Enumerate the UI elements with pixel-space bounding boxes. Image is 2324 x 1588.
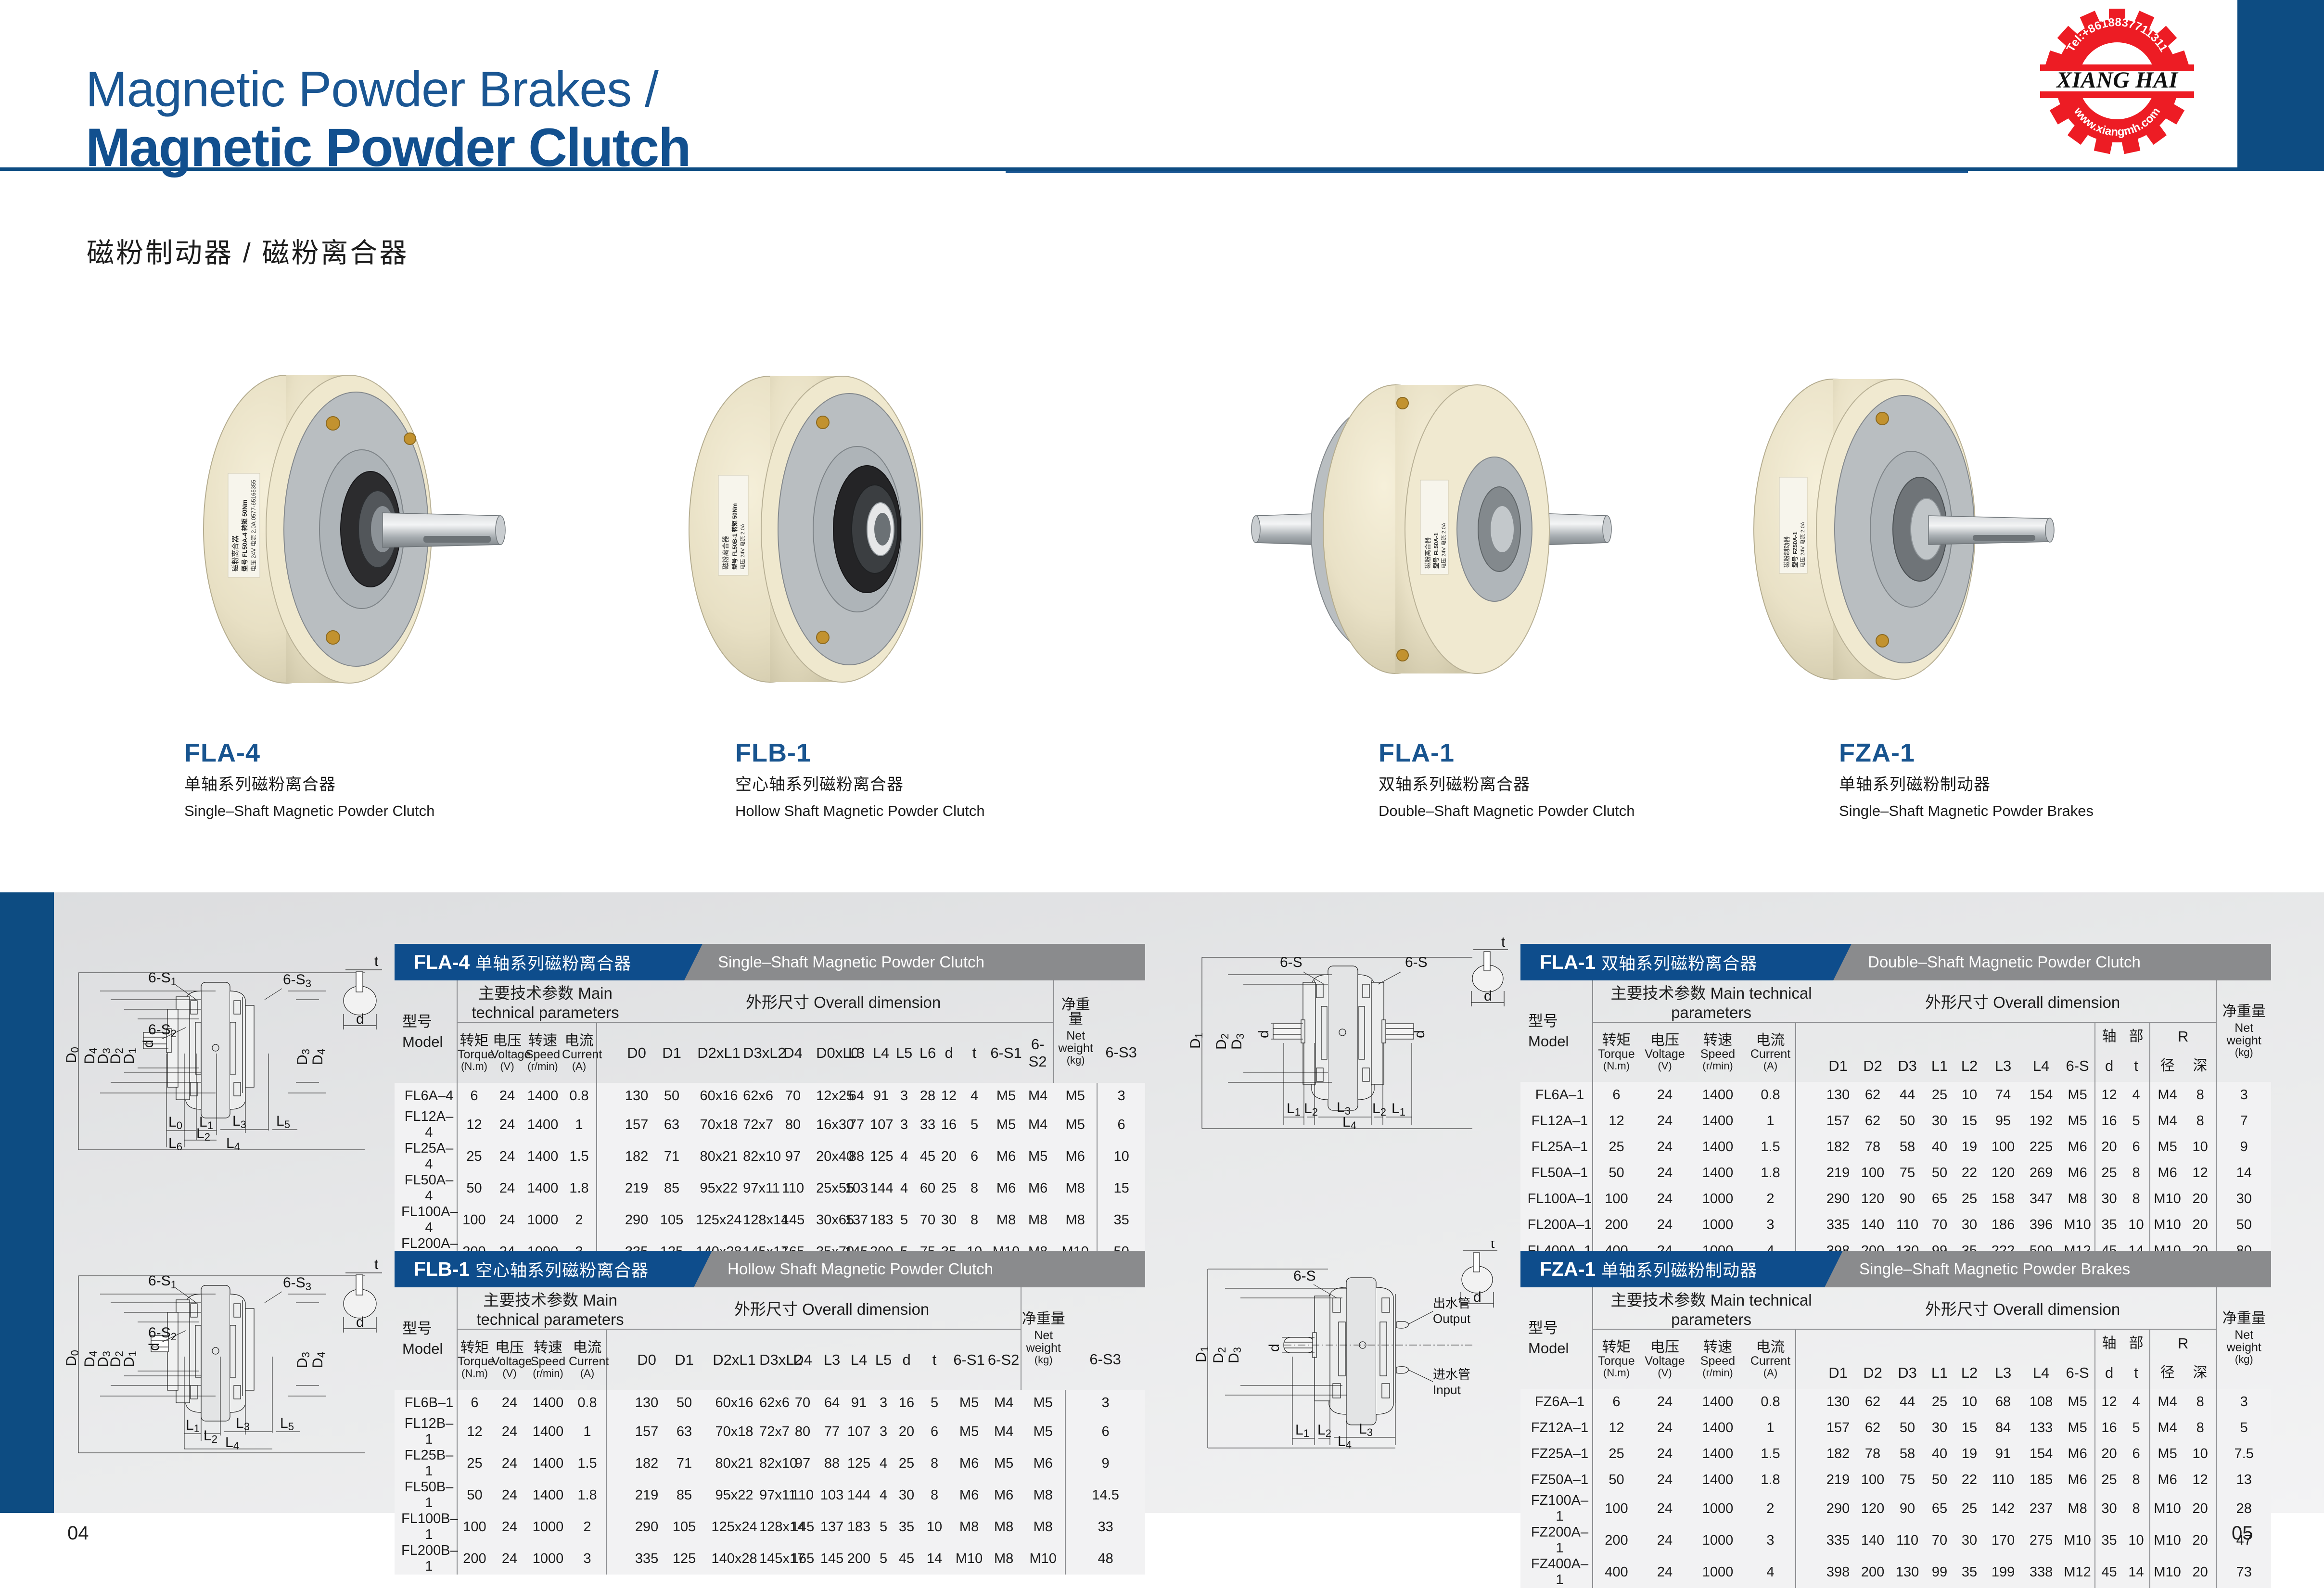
- table-cell: 24: [1640, 1108, 1690, 1134]
- table-cell: 85: [659, 1479, 709, 1511]
- table-cell: 70x18: [695, 1109, 743, 1141]
- table-cell: 130: [625, 1083, 649, 1109]
- table-cell: [1796, 1082, 1821, 1108]
- table-cell: M5: [1022, 1141, 1054, 1172]
- table-cell: 200: [847, 1543, 871, 1575]
- label-l4: L4: [226, 1135, 240, 1153]
- table-row: FZ6A–162414000.81306244251068108M5124M48…: [1520, 1389, 2271, 1415]
- header-r-dia: 径: [2150, 1050, 2184, 1082]
- table-cell: 97x11: [759, 1479, 788, 1511]
- table-cell: 95x22: [695, 1172, 743, 1204]
- table-cell: 120: [1855, 1186, 1890, 1212]
- table-cell: 78: [1855, 1441, 1890, 1467]
- table-cell: 0.8: [1746, 1082, 1796, 1108]
- table-cell: 30x65: [816, 1204, 843, 1236]
- table-row: FZ25A–1252414001.51827858401991154M6206M…: [1520, 1441, 2271, 1467]
- table-cell: 182: [634, 1448, 659, 1479]
- title-underline: [1006, 171, 1968, 173]
- table-cell: 120: [1984, 1160, 2022, 1186]
- table-cell: [1796, 1186, 1821, 1212]
- table-cell: 1: [1746, 1415, 1796, 1441]
- label-keyway-d: d: [356, 1011, 364, 1027]
- table-cell: 8: [917, 1479, 952, 1511]
- header-dim-5: L3: [1984, 1357, 2022, 1389]
- table-cell: 275: [2022, 1524, 2060, 1556]
- header-r: R: [2150, 1022, 2216, 1050]
- table-cell: 80x21: [709, 1448, 759, 1479]
- table-cell: M8: [986, 1543, 1021, 1575]
- caption-en-fza1: Single–Shaft Magnetic Powder Brakes: [1839, 803, 2094, 818]
- table-cell: 35: [2095, 1212, 2123, 1238]
- table-cell: 120: [1855, 1493, 1890, 1524]
- table-cell-weight: 50: [2216, 1212, 2271, 1238]
- table-cell: 70: [770, 1083, 816, 1109]
- rows-fza1: FZ6A–162414000.81306244251068108M5124M48…: [1520, 1389, 2271, 1588]
- table-cell: 60x16: [695, 1083, 743, 1109]
- table-cell: 24: [1640, 1493, 1690, 1524]
- table-cell: 99: [1925, 1556, 1954, 1588]
- header-group-dims: 外形尺寸 Overall dimension: [625, 980, 1054, 1022]
- band-fza1: FZA-1 单轴系列磁粉制动器 Single–Shaft Magnetic Po…: [1520, 1251, 2271, 1287]
- table-cell: 157: [1821, 1415, 1855, 1441]
- table-cell: [1796, 1212, 1821, 1238]
- caption-cn-fla4: 单轴系列磁粉离合器: [184, 776, 434, 793]
- table-cell: 70x18: [709, 1416, 759, 1448]
- table-cell: 20: [2184, 1556, 2216, 1588]
- table-row: FL25B–1252414001.51827180x2182x109788125…: [395, 1448, 1145, 1479]
- header-dim-7: 6-S: [2060, 1050, 2095, 1082]
- caption-cn-fla1: 双轴系列磁粉离合器: [1379, 776, 1634, 793]
- header-shaft-cn2: 部: [2123, 1329, 2150, 1357]
- svg-text:电压 24V 电流 2.0A: 电压 24V 电流 2.0A: [1440, 522, 1447, 569]
- table-cell: M10: [2060, 1212, 2095, 1238]
- table-cell-model: FL50A–1: [1520, 1160, 1593, 1186]
- table-cell: 44: [1890, 1082, 1925, 1108]
- header-speed: 转速 Speed (r/min): [527, 1329, 569, 1390]
- table-cell: [597, 1204, 625, 1236]
- header-dim-7: L4: [870, 1022, 892, 1083]
- table-cell: 8: [2184, 1108, 2216, 1134]
- header-dim-14: 6-S3: [1097, 1022, 1145, 1083]
- table-cell: 88: [817, 1448, 847, 1479]
- table-row: FZ12A–11224140011576250301584133M5165M48…: [1520, 1415, 2271, 1441]
- label-d1: D1: [1188, 1032, 1205, 1049]
- table-cell-weight: 9: [1065, 1448, 1145, 1479]
- table-cell: 8: [2123, 1467, 2150, 1493]
- label-d: d: [146, 1343, 162, 1351]
- table-cell-weight: 3: [1097, 1083, 1145, 1109]
- table-cell: 6: [1593, 1389, 1640, 1415]
- band-model-flb1: FLB-1: [414, 1258, 470, 1281]
- table-cell: 100: [457, 1204, 491, 1236]
- table-cell: M10: [2150, 1493, 2184, 1524]
- header-dim-6: L4: [847, 1329, 871, 1390]
- table-cell: M4: [986, 1416, 1021, 1448]
- table-cell: 5: [958, 1109, 990, 1141]
- table-cell-model: FL200A–1: [1520, 1212, 1593, 1238]
- page-title: Magnetic Powder Brakes / Magnetic Powder…: [86, 63, 1240, 176]
- header-dim-spacer: [1821, 1022, 2095, 1050]
- header-blue-rail: [2237, 0, 2324, 167]
- table-cell: 95x22: [709, 1479, 759, 1511]
- table-cell: 100: [1593, 1186, 1640, 1212]
- table-cell: 130: [634, 1390, 659, 1416]
- table-cell: 16: [2095, 1415, 2123, 1441]
- table-cell: 1400: [524, 1109, 562, 1141]
- table-cell: [1796, 1160, 1821, 1186]
- company-logo: XIANG HAI Tel:+8618837711311 www.xiangmh…: [2011, 9, 2223, 163]
- product-photo-fza1: 磁粉制动器 型号 FZ50A-1 电压 24V 电流 2.0A: [1713, 337, 2103, 702]
- table-row: FL50A–1502414001.8219100755022120269M625…: [1520, 1160, 2271, 1186]
- table-row: FL50B–1502414001.82198595x2297x111101031…: [395, 1479, 1145, 1511]
- table-cell: 25: [1925, 1389, 1954, 1415]
- table-cell: 3: [1746, 1524, 1796, 1556]
- table-cell: 133: [2022, 1415, 2060, 1441]
- caption-fla1: FLA-1 双轴系列磁粉离合器 Double–Shaft Magnetic Po…: [1379, 740, 1634, 818]
- table-cell: 199: [1984, 1556, 2022, 1588]
- table-cell: 4: [892, 1141, 916, 1172]
- header-dim-7: L5: [871, 1329, 896, 1390]
- table-cell: M6: [990, 1141, 1022, 1172]
- header-r: R: [2150, 1329, 2216, 1357]
- header-net-weight: 净重量 Net weight (kg): [2216, 980, 2271, 1082]
- table-cell: 30: [2095, 1493, 2123, 1524]
- table-row: FZ200A–120024100033351401107030170275M10…: [1520, 1524, 2271, 1556]
- table-cell: 1000: [1690, 1556, 1746, 1588]
- table-cell-model: FL100A–4: [395, 1204, 457, 1236]
- table-cell: 10: [2184, 1134, 2216, 1160]
- table-cell: 25: [1925, 1082, 1954, 1108]
- header-dim-0: D1: [1821, 1050, 1855, 1082]
- table-cell: [606, 1416, 634, 1448]
- table-cell-weight: 14: [2216, 1160, 2271, 1186]
- table-cell: 50: [1593, 1160, 1640, 1186]
- table-cell: 5: [2123, 1108, 2150, 1134]
- table-cell: 100: [1593, 1493, 1640, 1524]
- table-cell: 1000: [1690, 1212, 1746, 1238]
- caption-model-fla1: FLA-1: [1379, 740, 1634, 766]
- table-cell: 30: [939, 1204, 958, 1236]
- table-cell: 8: [2184, 1415, 2216, 1441]
- label-d3: D3: [1226, 1347, 1243, 1363]
- table-cell: 24: [492, 1390, 527, 1416]
- table-cell: M6: [1021, 1448, 1065, 1479]
- header-r-depth: 深: [2184, 1357, 2216, 1389]
- drawing-fza1: 6-S D1 D2 D3 d L1 L2 L3 L4 t d 出水管 Outpu…: [1184, 1241, 1511, 1477]
- table-cell: 105: [649, 1204, 695, 1236]
- label-d0: D0: [64, 1350, 81, 1366]
- band-cn-flb1: 空心轴系列磁粉离合器: [475, 1257, 649, 1282]
- table-cell: 1000: [1690, 1493, 1746, 1524]
- table-cell-model: FL12B–1: [395, 1416, 457, 1448]
- table-cell: M4: [2150, 1082, 2184, 1108]
- table-row: FL25A–4252414001.51827180x2182x109720x40…: [395, 1141, 1145, 1172]
- label-d1: D1: [1193, 1346, 1211, 1362]
- table-cell: 182: [1821, 1441, 1855, 1467]
- table-cell: 398: [1821, 1556, 1855, 1588]
- drawing-flb1: 6-S1 6-S2 6-S3 D0 D4 D3 D2 D1 d D3 D4 L1…: [57, 1241, 394, 1467]
- table-cell: 140x28: [709, 1543, 759, 1575]
- table-cell: M8: [2060, 1493, 2095, 1524]
- label-d-left: d: [1256, 1030, 1272, 1038]
- table-cell: 25: [457, 1141, 491, 1172]
- table-cell: 16: [939, 1109, 958, 1141]
- header-shaft-d: d: [2095, 1357, 2123, 1389]
- header-dim-3: L1: [1925, 1357, 1954, 1389]
- table-cell: [606, 1390, 634, 1416]
- spec-table-fza1: 型号Model 主要技术参数 Main technical parameters…: [1520, 1287, 2271, 1588]
- table-cell: 24: [1640, 1212, 1690, 1238]
- table-cell: 219: [1821, 1467, 1855, 1493]
- label-t: t: [374, 953, 379, 969]
- table-cell: M6: [986, 1479, 1021, 1511]
- table-cell: [1796, 1467, 1821, 1493]
- table-cell: 65: [1925, 1493, 1954, 1524]
- table-cell: 200: [1855, 1556, 1890, 1588]
- table-cell: 1.8: [1746, 1160, 1796, 1186]
- table-cell: 4: [1746, 1556, 1796, 1588]
- table-cell: 74: [1984, 1082, 2022, 1108]
- table-cell: 60x16: [709, 1390, 759, 1416]
- label-l0: L0: [168, 1114, 182, 1131]
- header-dim-2: D2xL1: [695, 1022, 743, 1083]
- table-cell: 63: [659, 1416, 709, 1448]
- header-voltage: 电压 Voltage (V): [492, 1329, 527, 1390]
- table-cell: 165: [788, 1543, 817, 1575]
- table-cell: 183: [847, 1511, 871, 1543]
- table-cell: 30: [1925, 1108, 1954, 1134]
- table-cell: 335: [1821, 1212, 1855, 1238]
- table-cell: 70: [916, 1204, 939, 1236]
- table-cell: 30: [896, 1479, 917, 1511]
- table-cell-model: FL6A–4: [395, 1083, 457, 1109]
- table-cell: 14: [917, 1543, 952, 1575]
- spec-table-fla1: 型号Model 主要技术参数 Main technical parameters…: [1520, 980, 2271, 1264]
- table-cell: 62: [1855, 1389, 1890, 1415]
- table-cell: 10: [917, 1511, 952, 1543]
- svg-text:XIANG HAI: XIANG HAI: [2056, 67, 2179, 93]
- table-cell: 1400: [527, 1416, 569, 1448]
- table-cell: 12: [1593, 1415, 1640, 1441]
- table-cell-model: FL6B–1: [395, 1390, 457, 1416]
- table-cell: [1796, 1108, 1821, 1134]
- header-voltage: 电压 Voltage (V): [1640, 1022, 1690, 1082]
- header-dim-5: D0xL0: [816, 1022, 843, 1083]
- table-cell: 8: [2123, 1186, 2150, 1212]
- table-cell: 24: [1640, 1082, 1690, 1108]
- table-cell: 5: [892, 1204, 916, 1236]
- table-cell: 24: [1640, 1467, 1690, 1493]
- table-cell: 10: [2123, 1212, 2150, 1238]
- table-cell: 15: [1954, 1415, 1984, 1441]
- label-d2: D2: [1213, 1033, 1231, 1050]
- table-cell: 4: [871, 1479, 896, 1511]
- svg-text:型号 FZ50A-1: 型号 FZ50A-1: [1791, 532, 1799, 568]
- band-cn-fla1: 双轴系列磁粉离合器: [1601, 950, 1757, 975]
- table-cell: 12: [2095, 1082, 2123, 1108]
- table-cell: M6: [2060, 1134, 2095, 1160]
- band-fla1: FLA-1 双轴系列磁粉离合器 Double–Shaft Magnetic Po…: [1520, 944, 2271, 980]
- table-cell-weight: 33: [1065, 1511, 1145, 1543]
- table-cell: 145x17: [759, 1543, 788, 1575]
- table-cell: 3: [569, 1543, 606, 1575]
- label-d4-right: D4: [310, 1352, 327, 1368]
- caption-model-flb1: FLB-1: [735, 740, 985, 766]
- table-cell: 100: [1855, 1160, 1890, 1186]
- table-cell: M10: [2060, 1524, 2095, 1556]
- table-row: FL6B–162414000.81305060x1662x67064913165…: [395, 1390, 1145, 1416]
- table-cell: M8: [986, 1511, 1021, 1543]
- table-cell: 1: [1746, 1108, 1796, 1134]
- table-cell-model: FL12A–1: [1520, 1108, 1593, 1134]
- table-row: FL25A–1252414001.518278584019100225M6206…: [1520, 1134, 2271, 1160]
- table-cell: 24: [491, 1141, 524, 1172]
- table-cell: 75: [1890, 1160, 1925, 1186]
- header-net-weight: 净重量 Net weight (kg): [1054, 980, 1097, 1083]
- table-cell: 1400: [524, 1141, 562, 1172]
- table-cell: 5: [871, 1543, 896, 1575]
- table-cell: 0.8: [569, 1390, 606, 1416]
- table-cell-weight: 15: [1097, 1172, 1145, 1204]
- table-cell: 14: [2123, 1556, 2150, 1588]
- table-cell: 22: [1954, 1467, 1984, 1493]
- table-cell: 50: [1925, 1467, 1954, 1493]
- table-cell-model: FL6A–1: [1520, 1082, 1593, 1108]
- table-cell: 1400: [1690, 1415, 1746, 1441]
- header-dim-6: L4: [2022, 1357, 2060, 1389]
- band-en-fla4: Single–Shaft Magnetic Powder Clutch: [718, 944, 984, 980]
- caption-flb1: FLB-1 空心轴系列磁粉离合器 Hollow Shaft Magnetic P…: [735, 740, 985, 818]
- table-cell: 24: [1640, 1524, 1690, 1556]
- table-cell: M5: [1021, 1390, 1065, 1416]
- table-cell: 3: [1746, 1212, 1796, 1238]
- table-cell: M4: [2150, 1108, 2184, 1134]
- table-cell: 1400: [1690, 1389, 1746, 1415]
- table-cell: 12: [2095, 1389, 2123, 1415]
- table-cell: M4: [1022, 1109, 1054, 1141]
- table-cell: M6: [2060, 1441, 2095, 1467]
- table-cell: 24: [492, 1511, 527, 1543]
- table-cell: 145: [788, 1511, 817, 1543]
- table-cell: 158: [1984, 1186, 2022, 1212]
- table-cell: 24: [1640, 1389, 1690, 1415]
- table-cell-weight: 73: [2216, 1556, 2271, 1588]
- table-cell: [606, 1448, 634, 1479]
- table-cell-model: FZ200A–1: [1520, 1524, 1593, 1556]
- header-dim-0: D0: [634, 1329, 659, 1390]
- table-cell: 80: [770, 1109, 816, 1141]
- table-cell: 140: [1855, 1524, 1890, 1556]
- header-dim-8: L5: [892, 1022, 916, 1083]
- table-cell: 19: [1954, 1134, 1984, 1160]
- header-dim-13: 6-S2: [1022, 1022, 1054, 1083]
- table-cell: 1: [569, 1416, 606, 1448]
- table-cell: 137: [817, 1511, 847, 1543]
- title-line-2: Magnetic Powder Clutch: [86, 119, 1240, 176]
- table-cell: 30: [1954, 1524, 1984, 1556]
- table-cell: 58: [1890, 1134, 1925, 1160]
- table-cell: 12x25: [816, 1083, 843, 1109]
- spec-block-fla4: FLA-4 单轴系列磁粉离合器 Single–Shaft Magnetic Po…: [395, 944, 1145, 1268]
- label-l1-left: L1: [1287, 1101, 1301, 1118]
- table-row: FL12A–11224140011576250301595192M5165M48…: [1520, 1108, 2271, 1134]
- table-cell: 10: [1954, 1389, 1984, 1415]
- table-cell: 20: [2184, 1186, 2216, 1212]
- table-cell: M5: [1021, 1416, 1065, 1448]
- table-cell: 219: [1821, 1160, 1855, 1186]
- table-cell: 219: [634, 1479, 659, 1511]
- table-cell: 16: [2095, 1108, 2123, 1134]
- label-6s3: 6-S3: [283, 1275, 311, 1293]
- label-keyway-d: d: [1484, 988, 1492, 1004]
- product-photo-fla4: 磁粉离合器 型号 FL50A-4 转矩 50Nm 电压 24V 电流 2.0A …: [164, 337, 553, 702]
- table-cell: 335: [634, 1543, 659, 1575]
- table-cell: 35: [1954, 1556, 1984, 1588]
- table-cell: 60: [916, 1172, 939, 1204]
- label-input-cn: 进水管: [1433, 1367, 1470, 1382]
- header-group-dims: 外形尺寸 Overall dimension: [634, 1287, 1021, 1329]
- label-t: t: [1501, 934, 1506, 950]
- table-cell: 58: [1890, 1441, 1925, 1467]
- table-cell: 30: [2095, 1186, 2123, 1212]
- table-cell: 24: [492, 1448, 527, 1479]
- table-cell: 5: [917, 1390, 952, 1416]
- table-cell: 24: [1640, 1186, 1690, 1212]
- table-cell: M6: [2060, 1467, 2095, 1493]
- table-cell: 68: [1984, 1389, 2022, 1415]
- table-cell: 24: [1640, 1441, 1690, 1467]
- table-cell: 24: [491, 1083, 524, 1109]
- table-cell: 290: [1821, 1493, 1855, 1524]
- header-group-params: 主要技术参数 Main technical parameters: [457, 1287, 634, 1329]
- table-cell: 10: [2123, 1524, 2150, 1556]
- table-cell: 4: [2123, 1389, 2150, 1415]
- table-cell: 28: [916, 1083, 939, 1109]
- header-model: 型号Model: [395, 980, 457, 1083]
- table-cell: 78: [1855, 1134, 1890, 1160]
- table-cell: 19: [1954, 1441, 1984, 1467]
- table-cell: 72x7: [759, 1416, 788, 1448]
- table-cell: [606, 1543, 634, 1575]
- table-cell: 40: [1925, 1441, 1954, 1467]
- table-cell: 70: [1925, 1212, 1954, 1238]
- table-cell: M6: [1054, 1141, 1097, 1172]
- table-cell: 91: [870, 1083, 892, 1109]
- table-cell: [606, 1479, 634, 1511]
- caption-en-fla4: Single–Shaft Magnetic Powder Clutch: [184, 803, 434, 818]
- table-cell: 12: [457, 1109, 491, 1141]
- header-model: 型号Model: [1520, 1287, 1593, 1389]
- table-cell: 125: [659, 1543, 709, 1575]
- table-cell: 130: [1821, 1389, 1855, 1415]
- table-cell: 3: [892, 1083, 916, 1109]
- table-cell-model: FZ12A–1: [1520, 1415, 1593, 1441]
- table-cell: 5: [871, 1511, 896, 1543]
- table-cell-model: FL100A–1: [1520, 1186, 1593, 1212]
- label-6s3: 6-S3: [283, 972, 311, 990]
- table-cell: 20: [896, 1416, 917, 1448]
- table-cell: M5: [2150, 1441, 2184, 1467]
- table-cell: 44: [1890, 1389, 1925, 1415]
- table-cell: 237: [2022, 1493, 2060, 1524]
- table-cell: 145: [817, 1543, 847, 1575]
- table-cell: 400: [1593, 1556, 1640, 1588]
- table-cell: 25: [1954, 1493, 1984, 1524]
- table-cell: 75: [1890, 1467, 1925, 1493]
- table-cell: 25: [1593, 1134, 1640, 1160]
- table-cell: 100: [457, 1511, 492, 1543]
- table-cell: M5: [990, 1083, 1022, 1109]
